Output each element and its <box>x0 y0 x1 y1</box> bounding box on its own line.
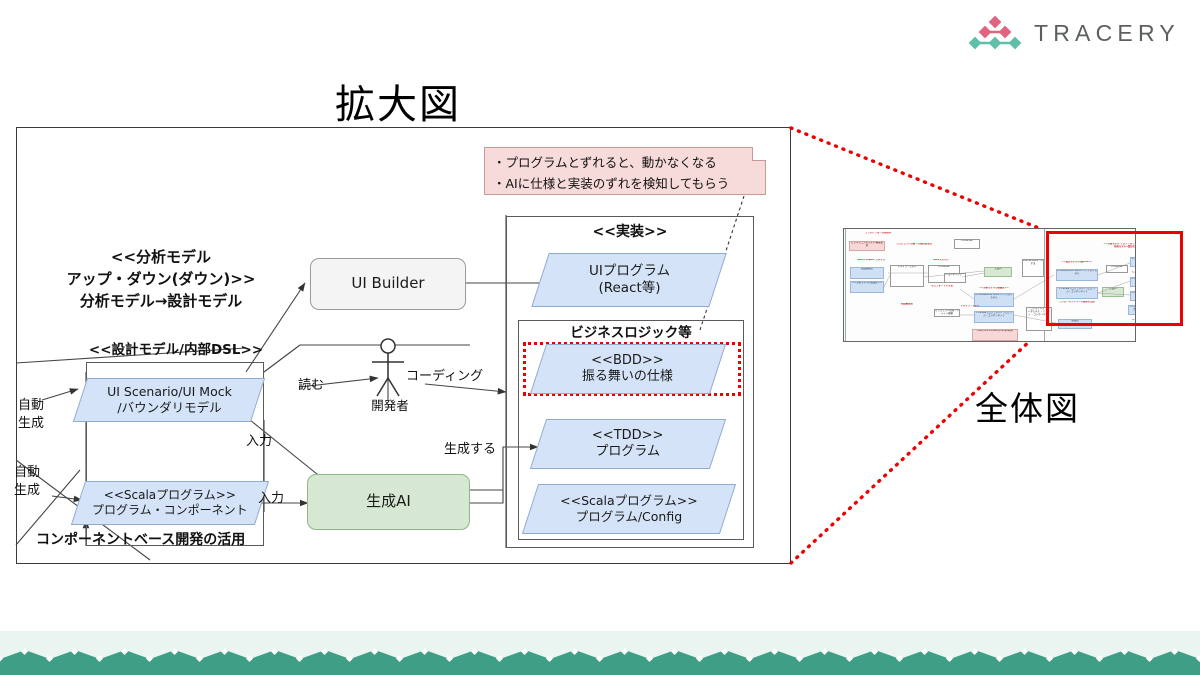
edge-label-auto-gen-1b: 生成 <box>18 416 44 432</box>
node-ui-program: UIプログラム (React等) <box>531 253 727 307</box>
brand-name: TRACERY <box>1034 20 1180 47</box>
node-scala-program-line2: プログラム・コンポーネント <box>92 503 248 517</box>
page-title-zoomed: 拡大図 <box>335 72 461 130</box>
edge-label-auto-gen-2b: 生成 <box>14 483 40 499</box>
edge-label-auto-gen-1a: 自動 <box>18 398 44 414</box>
node-generative-ai-label: 生成AI <box>366 492 411 512</box>
node-scala-program: <<Scalaプログラム>> プログラム・コンポーネント <box>71 481 269 525</box>
page-title-overall: 全体図 <box>975 382 1080 430</box>
node-scala-config-line2: プログラム/Config <box>576 509 682 524</box>
note-fold-corner <box>752 147 766 161</box>
edge-label-read: 読む <box>298 378 324 394</box>
edge-label-input-2: 入力 <box>258 491 284 507</box>
annotation-implementation: <<実装>> <box>506 224 754 241</box>
node-ui-scenario-line1: UI Scenario/UI Mock <box>107 384 232 399</box>
node-ui-scenario-line2: /バウンダリモデル <box>117 400 221 415</box>
note-line-2: ・AIに仕様と実装のずれを検知してもらう <box>493 174 757 195</box>
slide-canvas: TRACERY 拡大図 全体図 <box>0 0 1200 675</box>
node-tdd-line1: <<TDD>> <box>592 428 664 443</box>
node-ui-program-line2: (React等) <box>598 280 660 296</box>
warning-note: ・プログラムとずれると、動かなくなる ・AIに仕様と実装のずれを検知してもらう <box>484 147 766 195</box>
node-generative-ai: 生成AI <box>307 474 470 530</box>
node-scala-config-line1: <<Scalaプログラム>> <box>560 493 698 508</box>
edge-label-input-1: 入力 <box>246 434 272 450</box>
note-line-1: ・プログラムとずれると、動かなくなる <box>493 153 757 174</box>
edge-label-coding: コーディング <box>406 369 483 385</box>
annotation-analysis-model-line3: 分析モデル→設計モデル <box>36 292 286 310</box>
node-scala-program-line1: <<Scalaプログラム>> <box>104 488 236 502</box>
node-ui-program-line1: UIプログラム <box>589 263 670 279</box>
node-bdd: <<BDD>> 振る舞いの仕様 <box>530 344 726 394</box>
footer-decorative-band <box>0 631 1200 675</box>
node-ui-builder-label: UI Builder <box>351 274 424 294</box>
thumbnail-highlight-box <box>1046 231 1183 326</box>
annotation-design-model: <<設計モデル/内部DSL>> <box>56 342 296 358</box>
tracery-diamond-network-icon <box>968 16 1022 50</box>
node-ui-scenario: UI Scenario/UI Mock /バウンダリモデル <box>73 378 265 422</box>
annotation-analysis-model-line2: アップ・ダウン(ダウン)>> <box>26 270 296 288</box>
edge-label-auto-gen-2a: 自動 <box>14 465 40 481</box>
edge-label-generate: 生成する <box>444 442 496 458</box>
brand-logo: TRACERY <box>968 16 1180 50</box>
annotation-analysis-model-line1: <<分析モデル <box>36 248 286 266</box>
annotation-component-based: コンポーネントベース開発の活用 <box>36 532 326 549</box>
node-ui-builder: UI Builder <box>310 258 466 310</box>
node-bdd-line2: 振る舞いの仕様 <box>582 369 673 384</box>
footer-wave-pattern-icon <box>0 647 1200 675</box>
annotation-business-logic: ビジネスロジック等 <box>518 325 744 341</box>
node-tdd: <<TDD>> プログラム <box>530 419 726 469</box>
node-tdd-line2: プログラム <box>596 444 661 459</box>
node-actor-label: 開発者 <box>360 398 420 413</box>
node-scala-config: <<Scalaプログラム>> プログラム/Config <box>522 484 736 534</box>
node-bdd-line1: <<BDD>> <box>592 353 665 368</box>
